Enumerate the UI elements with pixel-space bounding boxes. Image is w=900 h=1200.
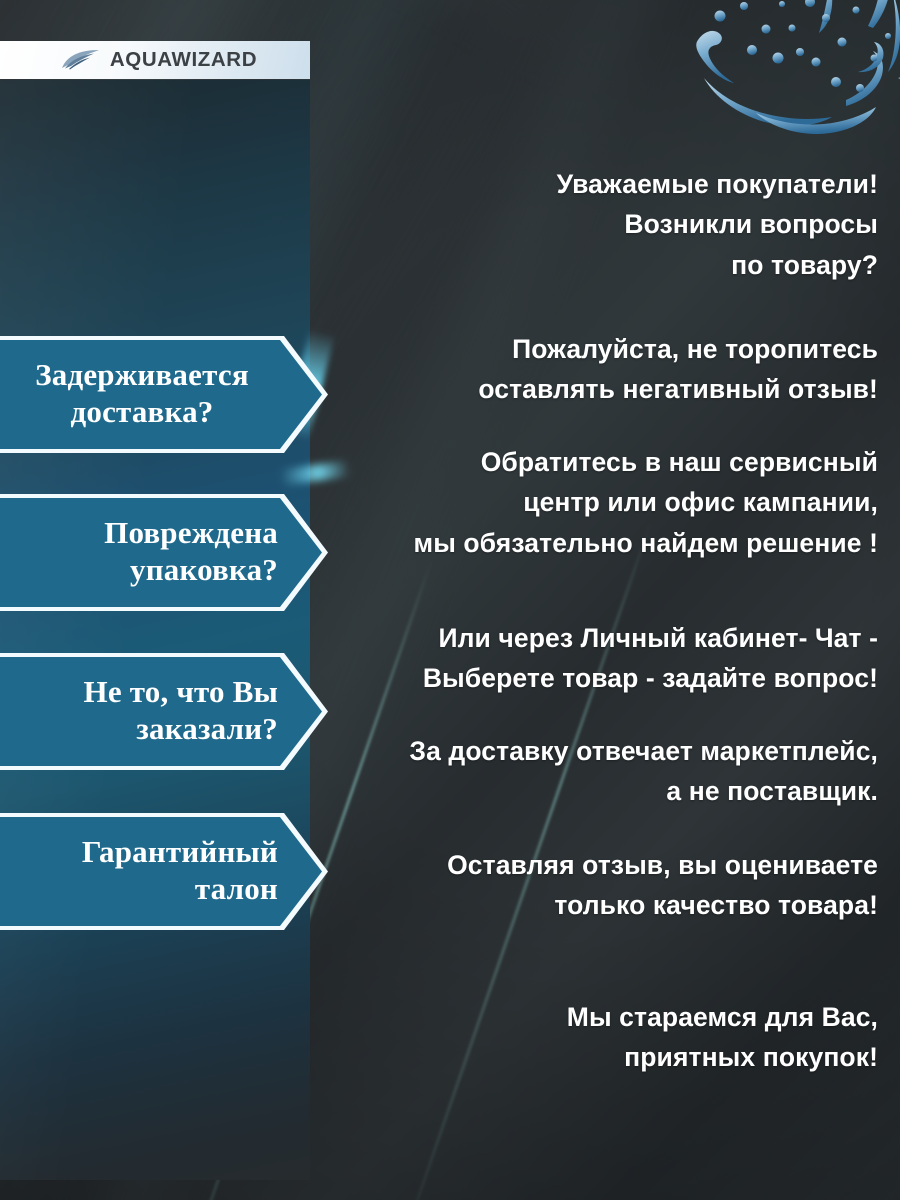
promo-poster: AQUAWIZARD Задерживается доставка? Повре… xyxy=(0,0,900,1200)
tab-damaged-packaging[interactable]: Повреждена упаковка? xyxy=(0,498,322,607)
message-review-quality: Оставляя отзыв, вы оцениваете только кач… xyxy=(318,845,878,926)
tab-warranty-card[interactable]: Гарантийный талон xyxy=(0,817,322,926)
message-service-center: Обратитесь в наш сервисный центр или офи… xyxy=(318,442,878,563)
message-greeting: Уважаемые покупатели! Возникли вопросы п… xyxy=(318,164,878,285)
brand-name: AQUAWIZARD xyxy=(110,48,257,72)
message-personal-chat: Или через Личный кабинет- Чат - Выберете… xyxy=(318,618,878,699)
left-blue-panel xyxy=(0,80,310,1180)
brand-logo-bar: AQUAWIZARD xyxy=(0,41,310,79)
tab-wrong-item[interactable]: Не то, что Вы заказали? xyxy=(0,657,322,766)
message-thanks: Мы стараемся для Вас, приятных покупок! xyxy=(318,997,878,1078)
message-no-rush-review: Пожалуйста, не торопитесь оставлять нега… xyxy=(318,329,878,410)
water-wave-icon xyxy=(61,49,101,71)
water-splash-icon xyxy=(660,0,900,152)
tab-delivery-delayed[interactable]: Задерживается доставка? xyxy=(0,340,322,449)
message-delivery-responsibility: За доставку отвечает маркетплейс, а не п… xyxy=(318,731,878,812)
